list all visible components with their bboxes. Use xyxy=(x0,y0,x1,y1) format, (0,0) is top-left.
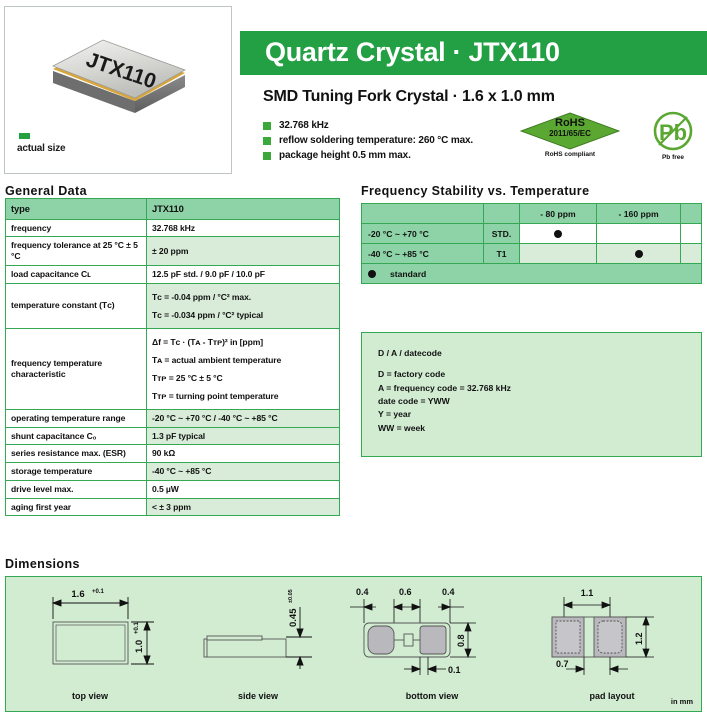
stability-table: - 80 ppm - 160 ppm -20 °C ~ +70 °C STD. … xyxy=(361,203,702,284)
svg-text:+0.1: +0.1 xyxy=(92,589,105,595)
rohs-label: RoHS xyxy=(520,117,620,129)
rohs-directive: 2011/65/EC xyxy=(520,129,620,138)
row-key: storage temperature xyxy=(6,463,147,481)
datecode-line: A = frequency code = 32.768 kHz xyxy=(378,382,685,395)
standard-dot-icon xyxy=(368,270,376,278)
product-title-bar: Quartz Crystal · JTX110 xyxy=(240,31,707,75)
row-value: < ± 3 ppm xyxy=(147,498,340,516)
header-block: JTX110 actual size Quartz Crystal · JTX1… xyxy=(0,0,707,182)
row-key: aging first year xyxy=(6,498,147,516)
row-key: shunt capacitance C₀ xyxy=(6,427,147,445)
dimensions-panel: 1.6 +0.1 1.0 +0.1 top view 0.45 xyxy=(5,576,702,712)
datecode-line: D = factory code xyxy=(378,368,685,381)
stability-mark-cell xyxy=(681,224,702,244)
row-value: 1.3 pF typical xyxy=(147,427,340,445)
stability-mark-cell xyxy=(520,244,597,264)
table-row: operating temperature range -20 °C ~ +70… xyxy=(6,409,340,427)
row-key: series resistance max. (ESR) xyxy=(6,445,147,463)
actual-size-caption: actual size xyxy=(17,143,65,154)
row-key: operating temperature range xyxy=(6,409,147,427)
datecode-line: WW = week xyxy=(378,422,685,435)
row-value: -40 °C ~ +85 °C xyxy=(147,463,340,481)
svg-text:0.45: 0.45 xyxy=(288,608,299,627)
pb-free-caption: Pb free xyxy=(650,154,696,161)
rohs-badge: RoHS 2011/65/EC RoHS compliant xyxy=(520,112,620,164)
value-line: Tᴄ = -0.04 ppm / °C² max. xyxy=(152,288,334,306)
row-value: ± 20 ppm xyxy=(147,237,340,265)
general-data-table: type JTX110 frequency 32.768 kHz frequen… xyxy=(5,198,340,516)
page-title: Quartz Crystal · JTX110 xyxy=(265,37,560,68)
row-value: JTX110 xyxy=(147,199,340,220)
dimension-view-top: 1.6 +0.1 1.0 +0.1 top view xyxy=(6,577,174,713)
row-value: 32.768 kHz xyxy=(147,219,340,237)
table-row: frequency 32.768 kHz xyxy=(6,219,340,237)
list-item: 32.768 kHz xyxy=(263,120,533,131)
table-row: aging first year < ± 3 ppm xyxy=(6,498,340,516)
rohs-caption: RoHS compliant xyxy=(520,151,620,158)
table-row: series resistance max. (ESR) 90 kΩ xyxy=(6,445,340,463)
list-item: reflow soldering temperature: 260 °C max… xyxy=(263,135,533,146)
list-item: package height 0.5 mm max. xyxy=(263,150,533,161)
unit-note: in mm xyxy=(671,697,693,706)
top-view-drawing: 1.6 +0.1 1.0 +0.1 xyxy=(6,577,174,687)
standard-dot-icon xyxy=(554,230,562,238)
row-key: temperature constant (Tᴄ) xyxy=(6,283,147,328)
table-row: frequency tolerance at 25 °C ± 5 °C ± 20… xyxy=(6,237,340,265)
row-value: -20 °C ~ +70 °C / -40 °C ~ +85 °C xyxy=(147,409,340,427)
pb-free-badge: Pb Pb free xyxy=(650,110,696,166)
row-key: frequency temperature characteristic xyxy=(6,328,147,409)
datecode-legend-box: D / A / datecode D = factory code A = fr… xyxy=(361,332,702,457)
svg-text:0.6: 0.6 xyxy=(399,587,412,597)
product-photo-box: JTX110 actual size xyxy=(4,6,232,174)
svg-text:0.4: 0.4 xyxy=(356,587,369,597)
row-key: type xyxy=(6,199,147,220)
svg-text:0.4: 0.4 xyxy=(442,587,455,597)
value-line: Δf = Tᴄ · (Tᴀ - Tᴛᴘ)² in [ppm] xyxy=(152,333,334,351)
table-row: -40 °C ~ +85 °C T1 xyxy=(362,244,702,264)
table-row: -20 °C ~ +70 °C STD. xyxy=(362,224,702,244)
table-row: frequency temperature characteristic Δf … xyxy=(6,328,340,409)
product-subtitle: SMD Tuning Fork Crystal · 1.6 x 1.0 mm xyxy=(263,88,555,106)
view-caption: top view xyxy=(6,691,174,701)
stability-mark-cell xyxy=(520,224,597,244)
side-view-drawing: 0.45 ±0.05 xyxy=(174,577,342,687)
svg-text:+0.1: +0.1 xyxy=(134,621,140,634)
svg-text:1.1: 1.1 xyxy=(581,588,594,598)
svg-text:0.8: 0.8 xyxy=(456,634,466,647)
table-row: temperature constant (Tᴄ) Tᴄ = -0.04 ppm… xyxy=(6,283,340,328)
value-line: Tᴀ = actual ambient temperature xyxy=(152,351,334,369)
table-row: shunt capacitance C₀ 1.3 pF typical xyxy=(6,427,340,445)
svg-text:1.2: 1.2 xyxy=(634,632,644,645)
table-row: - 80 ppm - 160 ppm xyxy=(362,204,702,224)
column-header: - 80 ppm xyxy=(520,204,597,224)
svg-text:±0.05: ±0.05 xyxy=(288,589,294,603)
stability-mark-cell xyxy=(596,224,680,244)
column-header xyxy=(362,204,484,224)
pb-free-icon: Pb xyxy=(650,110,696,154)
table-row: standard xyxy=(362,264,702,284)
bottom-view-drawing: 0.4 0.6 0.4 xyxy=(342,577,522,689)
stability-mark-cell xyxy=(681,244,702,264)
svg-text:0.1: 0.1 xyxy=(448,665,461,675)
column-header xyxy=(681,204,702,224)
legend-row: standard xyxy=(362,264,702,284)
table-row: storage temperature -40 °C ~ +85 °C xyxy=(6,463,340,481)
row-key: drive level max. xyxy=(6,480,147,498)
view-caption: side view xyxy=(174,691,342,701)
row-value: 0.5 µW xyxy=(147,480,340,498)
temp-range: -40 °C ~ +85 °C xyxy=(362,244,484,264)
row-key: frequency tolerance at 25 °C ± 5 °C xyxy=(6,237,147,265)
legend-label: standard xyxy=(390,269,426,279)
row-key: load capacitance Cʟ xyxy=(6,265,147,283)
svg-text:1.0: 1.0 xyxy=(134,640,145,653)
value-line: Tᴄ = -0.034 ppm / °C² typical xyxy=(152,306,334,324)
row-key: frequency xyxy=(6,219,147,237)
temp-range: -20 °C ~ +70 °C xyxy=(362,224,484,244)
stability-heading: Frequency Stability vs. Temperature xyxy=(361,184,589,198)
general-data-heading: General Data xyxy=(5,184,87,198)
datecode-title: D / A / datecode xyxy=(378,347,685,360)
actual-size-indicator xyxy=(19,133,30,139)
column-header xyxy=(484,204,520,224)
column-header: - 160 ppm xyxy=(596,204,680,224)
grade-code: STD. xyxy=(484,224,520,244)
dimension-view-side: 0.45 ±0.05 side view xyxy=(174,577,342,713)
svg-text:1.6: 1.6 xyxy=(71,589,84,600)
table-row: drive level max. 0.5 µW xyxy=(6,480,340,498)
datecode-line: date code = YWW xyxy=(378,395,685,408)
stability-mark-cell xyxy=(596,244,680,264)
row-value: 12.5 pF std. / 9.0 pF / 10.0 pF xyxy=(147,265,340,283)
table-row: type JTX110 xyxy=(6,199,340,220)
datecode-line: Y = year xyxy=(378,408,685,421)
dimension-view-bottom: 0.4 0.6 0.4 xyxy=(342,577,522,713)
row-value: Tᴄ = -0.04 ppm / °C² max. Tᴄ = -0.034 pp… xyxy=(147,283,340,328)
grade-code: T1 xyxy=(484,244,520,264)
value-line: Tᴛᴘ = 25 °C ± 5 °C xyxy=(152,369,334,387)
standard-dot-icon xyxy=(635,250,643,258)
value-line: Tᴛᴘ = turning point temperature xyxy=(152,387,334,405)
dimension-view-pad: 1.1 1.2 0.7 xyxy=(522,577,702,713)
row-value: 90 kΩ xyxy=(147,445,340,463)
table-row: load capacitance Cʟ 12.5 pF std. / 9.0 p… xyxy=(6,265,340,283)
feature-bullet-list: 32.768 kHz reflow soldering temperature:… xyxy=(263,120,533,165)
svg-text:0.7: 0.7 xyxy=(556,659,569,669)
row-value: Δf = Tᴄ · (Tᴀ - Tᴛᴘ)² in [ppm] Tᴀ = actu… xyxy=(147,328,340,409)
crystal-package-image: JTX110 xyxy=(43,25,195,121)
dimensions-heading: Dimensions xyxy=(5,557,80,571)
view-caption: bottom view xyxy=(342,691,522,701)
pad-layout-drawing: 1.1 1.2 0.7 xyxy=(522,577,702,689)
